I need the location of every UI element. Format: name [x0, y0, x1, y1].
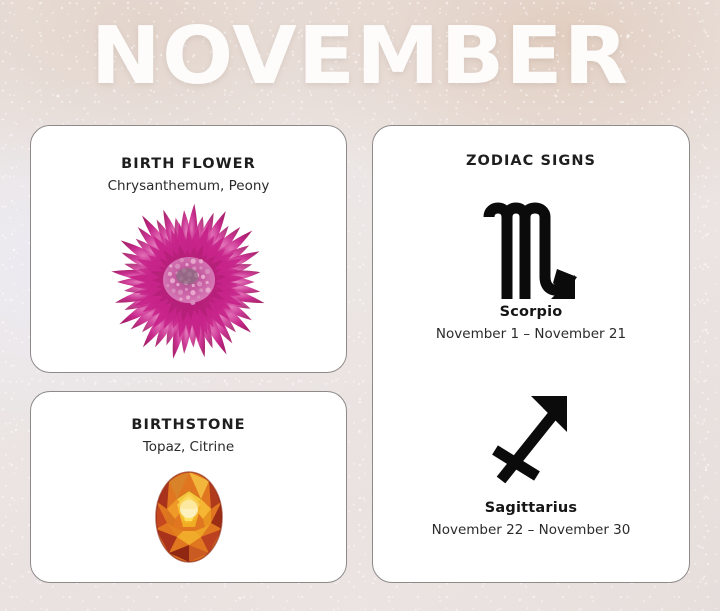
scorpio-name: Scorpio — [373, 304, 689, 320]
scorpio-glyph-icon — [479, 199, 583, 305]
sagittarius-glyph-holder — [373, 384, 689, 492]
scorpio-glyph-holder — [373, 198, 689, 306]
sagittarius-glyph-icon — [485, 388, 577, 488]
oval-gemstone-icon — [145, 465, 233, 569]
sagittarius-name: Sagittarius — [373, 500, 689, 516]
birthstone-card: BIRTHSTONE Topaz, Citrine — [30, 391, 347, 583]
chrysanthemum-flower-icon — [101, 198, 277, 363]
zodiac-signs-card: ZODIAC SIGNS Scorpio November 1 – Novemb… — [372, 125, 690, 583]
birth-flower-title: BIRTH FLOWER — [31, 156, 346, 172]
birthstone-subtitle: Topaz, Citrine — [31, 439, 346, 455]
birth-flower-card: BIRTH FLOWER Chrysanthemum, Peony — [30, 125, 347, 373]
birth-flower-subtitle: Chrysanthemum, Peony — [31, 178, 346, 194]
sagittarius-dates: November 22 – November 30 — [373, 522, 689, 538]
zodiac-sign-scorpio: Scorpio November 1 – November 21 — [373, 198, 689, 342]
zodiac-signs-title: ZODIAC SIGNS — [373, 153, 689, 169]
page-title: NOVEMBER — [0, 17, 720, 96]
birthstone-title: BIRTHSTONE — [31, 417, 346, 433]
zodiac-sign-sagittarius: Sagittarius November 22 – November 30 — [373, 384, 689, 538]
scorpio-dates: November 1 – November 21 — [373, 326, 689, 342]
